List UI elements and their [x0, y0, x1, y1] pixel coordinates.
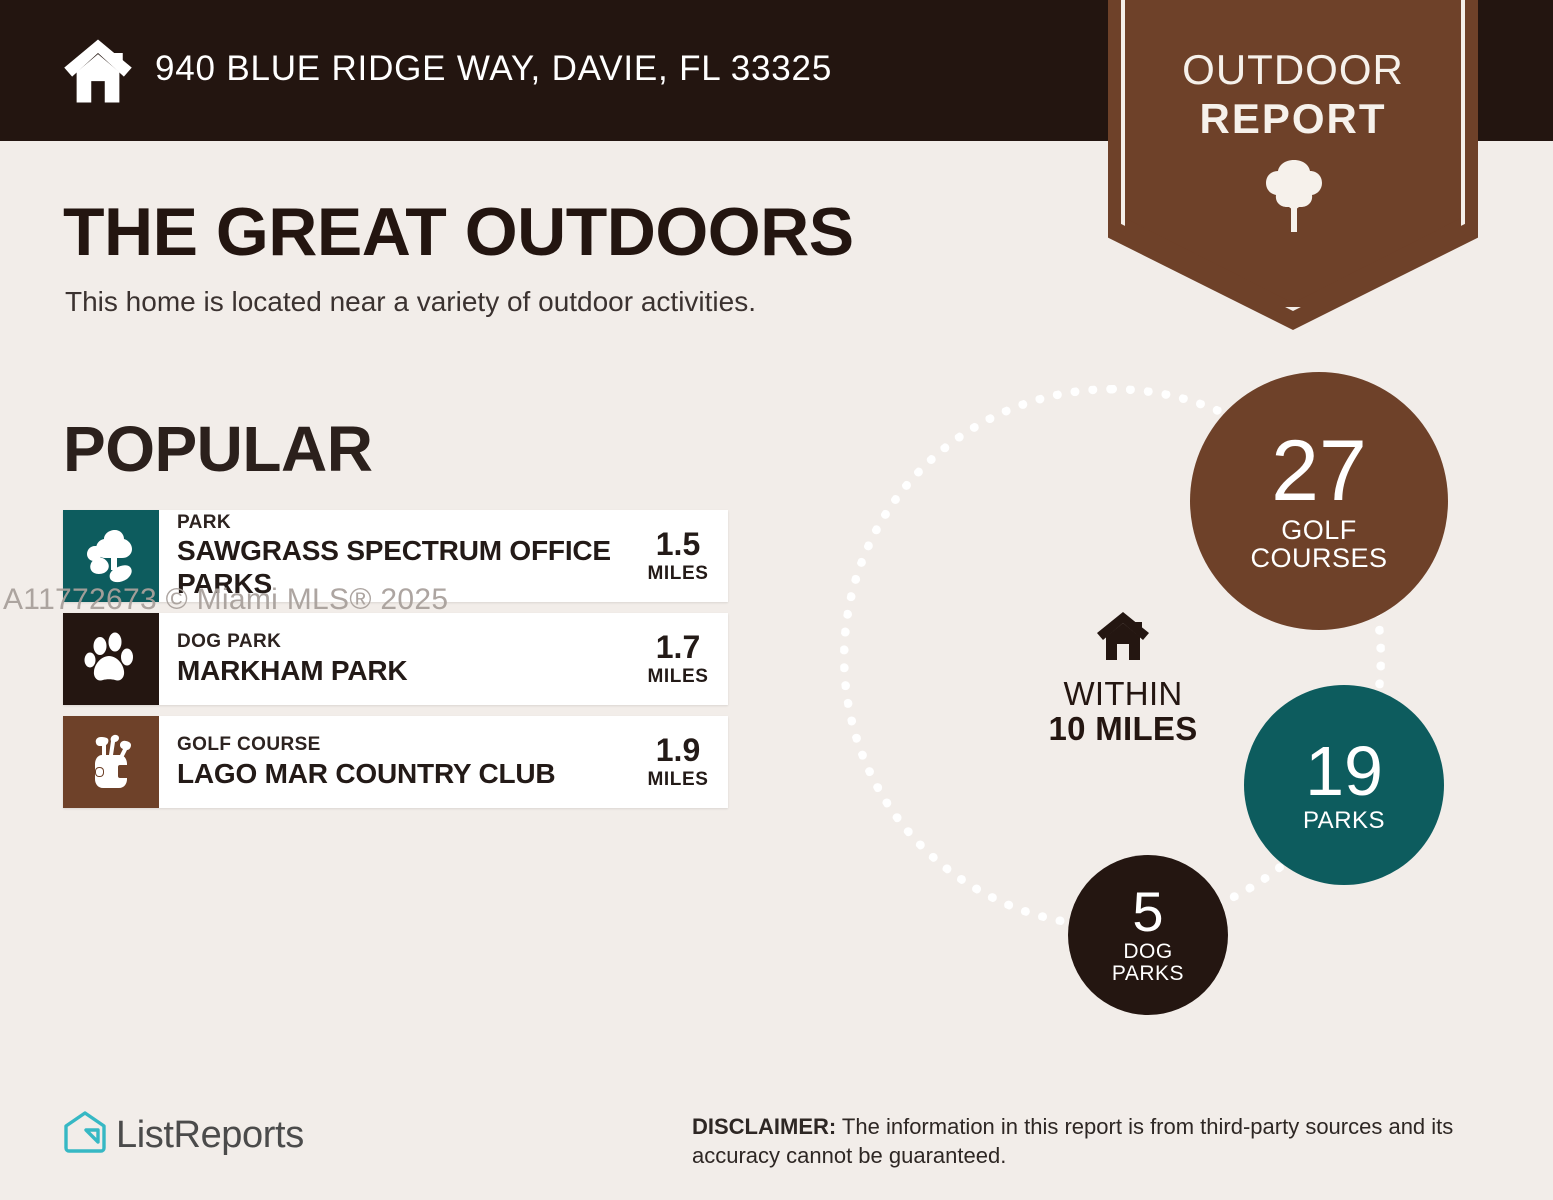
mls-watermark: A11772673 © Miami MLS® 2025	[3, 583, 448, 617]
disclaimer: DISCLAIMER: The information in this repo…	[692, 1112, 1492, 1170]
stat-golf-courses: 27 GOLF COURSES	[1190, 372, 1448, 630]
distance-value: 1.7	[642, 631, 714, 663]
brand-name: ListReports	[116, 1114, 304, 1157]
stat-label-line2: COURSES	[1250, 544, 1387, 573]
list-item-icon-box	[63, 716, 159, 808]
list-item-distance: 1.9 MILES	[642, 734, 714, 791]
list-item-distance: 1.5 MILES	[642, 528, 714, 585]
popular-heading: POPULAR	[63, 412, 372, 486]
property-address: 940 BLUE RIDGE WAY, DAVIE, FL 33325	[155, 49, 832, 89]
home-icon	[62, 37, 134, 105]
list-item-icon-box	[63, 613, 159, 705]
park-tree-icon	[82, 528, 140, 584]
golf-bag-icon	[86, 733, 136, 791]
page-title: THE GREAT OUTDOORS	[63, 193, 854, 271]
distance-unit: MILES	[642, 666, 714, 688]
list-item-category: GOLF COURSE	[177, 734, 555, 756]
outdoor-report-page: 940 BLUE RIDGE WAY, DAVIE, FL 33325 OUTD…	[0, 0, 1553, 1200]
stat-value: 27	[1271, 429, 1367, 513]
list-item-distance: 1.7 MILES	[642, 631, 714, 688]
stat-dog-parks: 5 DOG PARKS	[1068, 855, 1228, 1015]
within-label-line1: WITHIN	[1013, 675, 1233, 713]
stat-parks: 19 PARKS	[1244, 685, 1444, 885]
list-item-category: DOG PARK	[177, 631, 407, 653]
stat-value: 19	[1305, 737, 1383, 806]
distance-unit: MILES	[642, 769, 714, 791]
paw-print-icon	[84, 632, 138, 686]
list-item-body: GOLF COURSE LAGO MAR COUNTRY CLUB 1.9 MI…	[159, 716, 728, 808]
distance-value: 1.5	[642, 528, 714, 560]
tree-icon	[1258, 158, 1330, 234]
list-item-name: MARKHAM PARK	[177, 654, 407, 687]
list-item-body: DOG PARK MARKHAM PARK 1.7 MILES	[159, 613, 728, 705]
within-label-line2: 10 MILES	[1013, 710, 1233, 748]
badge-line2: REPORT	[1108, 95, 1478, 143]
stat-value: 5	[1132, 885, 1163, 940]
distance-unit: MILES	[642, 563, 714, 585]
page-subtitle: This home is located near a variety of o…	[65, 286, 756, 318]
list-item-name: LAGO MAR COUNTRY CLUB	[177, 757, 555, 790]
distance-value: 1.9	[642, 734, 714, 766]
list-item-category: PARK	[177, 512, 642, 534]
badge-line1: OUTDOOR	[1108, 46, 1478, 94]
disclaimer-label: DISCLAIMER:	[692, 1114, 836, 1139]
list-item[interactable]: DOG PARK MARKHAM PARK 1.7 MILES	[63, 613, 728, 705]
listreports-house-icon	[60, 1108, 110, 1158]
stat-label-line1: DOG	[1123, 941, 1172, 963]
popular-list: PARK SAWGRASS SPECTRUM OFFICE PARKS 1.5 …	[63, 510, 728, 819]
stat-label-line1: PARKS	[1303, 808, 1385, 833]
list-item[interactable]: GOLF COURSE LAGO MAR COUNTRY CLUB 1.9 MI…	[63, 716, 728, 808]
stat-label-line2: PARKS	[1112, 963, 1184, 985]
home-icon	[1095, 610, 1151, 662]
stat-label-line1: GOLF	[1281, 516, 1357, 545]
